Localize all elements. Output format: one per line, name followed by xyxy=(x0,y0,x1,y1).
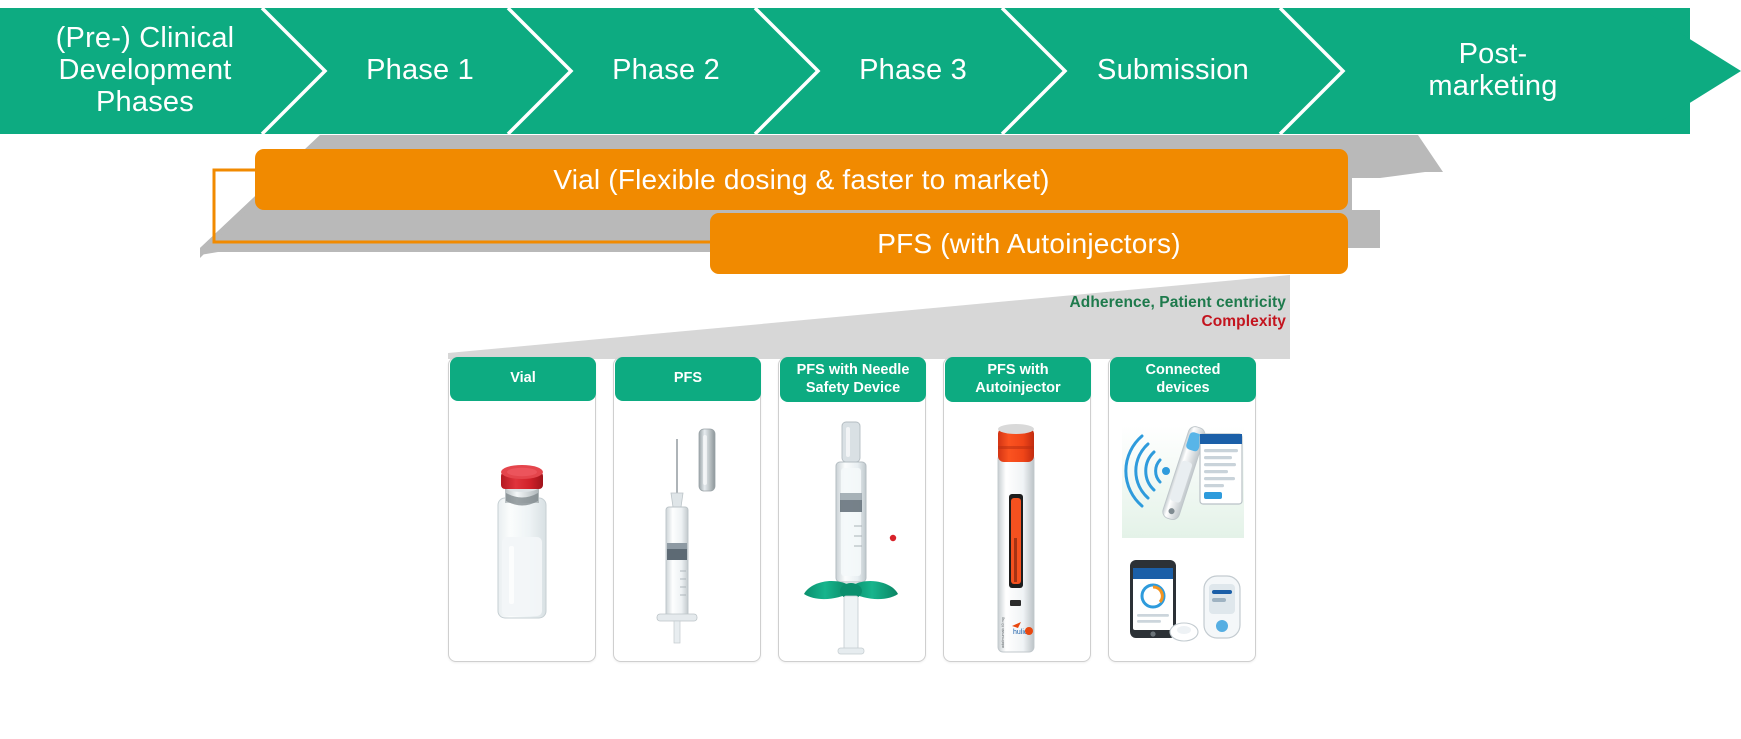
svg-text:adalimumab 40 mg: adalimumab 40 mg xyxy=(1001,617,1005,648)
prefilled-syringe-image xyxy=(647,421,727,651)
autoinjector-image: hulio adalimumab 40 mg xyxy=(988,418,1046,654)
needle-safety-device-image xyxy=(800,416,904,656)
device-card-nsd-line-0: PFS with Needle xyxy=(797,362,910,378)
device-card-nsd-line-1: Safety Device xyxy=(806,380,900,396)
connected-devices-image xyxy=(1116,418,1248,654)
device-card-needle-safety-device[interactable]: PFS with Needle Safety Device xyxy=(778,357,926,662)
wedge-complexity-label: Complexity xyxy=(1201,313,1286,331)
slide-canvas: (Pre-) Clinical Development Phases Phase… xyxy=(0,0,1741,739)
track-bar-pfs[interactable]: PFS (with Autoinjectors) xyxy=(710,213,1348,274)
device-card-pfs-body xyxy=(614,410,760,661)
device-card-row: Vial xyxy=(448,357,1256,662)
device-card-cd-line-1: devices xyxy=(1156,380,1209,396)
device-card-pfs-header: PFS xyxy=(615,357,761,401)
device-card-ai-line-0: PFS with xyxy=(987,362,1048,378)
device-card-connected-devices[interactable]: Connected devices xyxy=(1108,357,1256,662)
device-card-vial[interactable]: Vial xyxy=(448,357,596,662)
device-card-autoinjector-header: PFS with Autoinjector xyxy=(945,357,1091,402)
track-bar-pfs-label: PFS (with Autoinjectors) xyxy=(877,228,1181,260)
phase-chevron-banner: (Pre-) Clinical Development Phases Phase… xyxy=(0,8,1741,134)
device-card-vial-header: Vial xyxy=(450,357,596,401)
device-card-needle-safety-device-header: PFS with Needle Safety Device xyxy=(780,357,926,402)
device-card-vial-line-0: Vial xyxy=(510,370,536,386)
track-bar-vial-label: Vial (Flexible dosing & faster to market… xyxy=(553,164,1049,196)
device-card-needle-safety-device-body xyxy=(779,410,925,661)
device-card-connected-devices-body xyxy=(1109,410,1255,661)
device-card-pfs[interactable]: PFS xyxy=(613,357,761,662)
device-card-autoinjector-body: hulio adalimumab 40 mg xyxy=(944,410,1090,661)
device-card-autoinjector[interactable]: PFS with Autoinjector xyxy=(943,357,1091,662)
device-card-ai-line-1: Autoinjector xyxy=(975,380,1060,396)
wedge-adherence-label: Adherence, Patient centricity xyxy=(1069,294,1286,312)
device-card-connected-devices-header: Connected devices xyxy=(1110,357,1256,402)
device-card-vial-body xyxy=(449,410,595,661)
device-card-pfs-line-0: PFS xyxy=(674,370,702,386)
complexity-wedge xyxy=(430,275,1290,365)
track-bar-vial[interactable]: Vial (Flexible dosing & faster to market… xyxy=(255,149,1348,210)
device-card-cd-line-0: Connected xyxy=(1146,362,1221,378)
vial-image xyxy=(485,451,559,621)
